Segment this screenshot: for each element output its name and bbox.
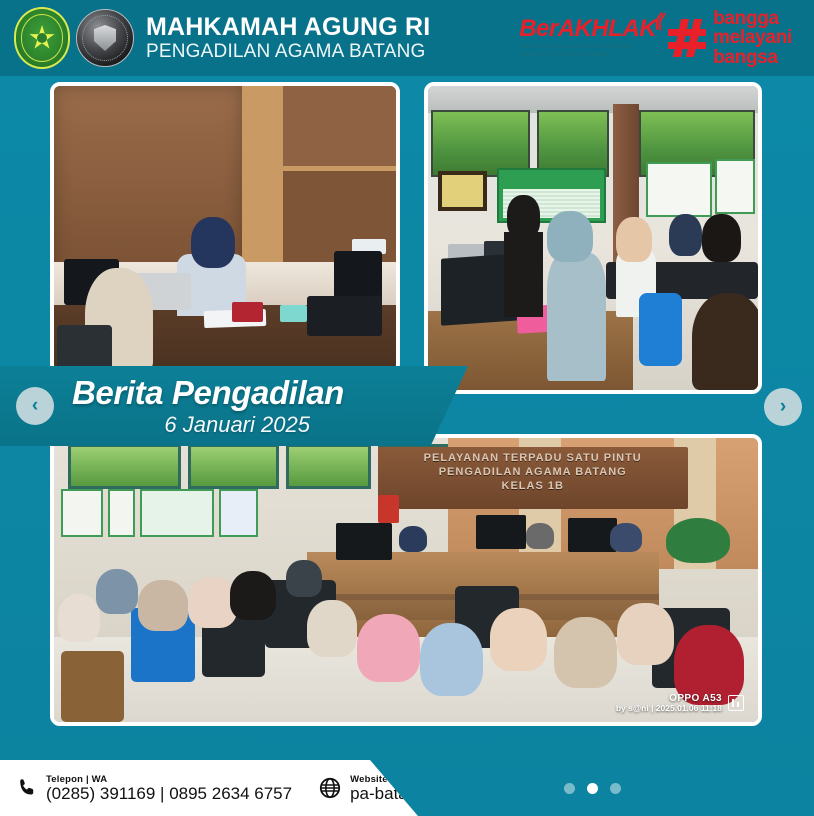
photo-waiting-desk[interactable] — [424, 82, 762, 394]
photo-waiting-desk-image — [428, 86, 758, 390]
logo-zona-integritas-icon — [76, 9, 134, 67]
watermark-meta: by s@ni | 2025.01.06 11:18 — [616, 704, 722, 714]
photo-counter-service-image — [54, 86, 396, 370]
shield-icon — [94, 25, 116, 51]
header-title-block: MAHKAMAH AGUNG RI PENGADILAN AGAMA BATAN… — [146, 15, 430, 62]
phone-icon — [16, 776, 38, 800]
carousel-pagination — [370, 760, 814, 816]
camera-shutter-icon — [728, 695, 744, 711]
wall-sign-line-3: KELAS 1B — [378, 480, 688, 492]
photo-ptsp-hall-image: PELAYANAN TERPADU SATU PINTU PENGADILAN … — [54, 438, 758, 722]
bangga-melayani-bangsa-tagline: bangga melayani bangsa — [713, 9, 792, 67]
carousel-prev-button[interactable]: ‹ — [16, 387, 54, 425]
tagline-line-3: bangsa — [713, 48, 792, 67]
banner-text-block: Berita Pengadilan 6 Januari 2025 — [72, 376, 344, 436]
berakhlak-check-icon: ⟪ — [652, 9, 669, 34]
emblem-star-shape — [29, 25, 55, 51]
carousel-dot-3[interactable] — [610, 783, 621, 794]
logo-pengadilan-agama-batang-icon — [14, 7, 70, 69]
phone-label: Telepon | WA — [46, 774, 292, 785]
banner-date: 6 Januari 2025 — [72, 413, 344, 436]
news-banner: ‹ Berita Pengadilan 6 Januari 2025 — [0, 366, 468, 446]
wall-sign-line-1: PELAYANAN TERPADU SATU PINTU — [378, 452, 688, 464]
berakhlak-wordmark: BerAKHLAK — [519, 17, 656, 41]
wall-sign-line-2: PENGADILAN AGAMA BATANG — [378, 466, 688, 478]
carousel-next-button[interactable]: › — [764, 388, 802, 426]
photo-ptsp-hall[interactable]: PELAYANAN TERPADU SATU PINTU PENGADILAN … — [50, 434, 762, 726]
wall-sign-ptsp: PELAYANAN TERPADU SATU PINTU PENGADILAN … — [378, 447, 688, 509]
photo-watermark: OPPO A53 by s@ni | 2025.01.06 11:18 — [616, 693, 744, 714]
tagline-line-2: melayani — [713, 28, 792, 47]
tagline-line-1: bangga — [713, 9, 792, 28]
berakhlak-brand: BerAKHLAK ⟪ Berorientasi Pelayanan Akunt… — [519, 9, 800, 67]
berakhlak-values: Berorientasi Pelayanan Akuntabel Kompete… — [519, 43, 637, 59]
carousel-dot-2[interactable] — [587, 783, 598, 794]
news-poster: MAHKAMAH AGUNG RI PENGADILAN AGAMA BATAN… — [0, 0, 814, 816]
globe-icon — [318, 776, 342, 800]
banner-title: Berita Pengadilan — [72, 376, 344, 411]
phone-value: (0285) 391169 | 0895 2634 6757 — [46, 785, 292, 803]
court-name: PENGADILAN AGAMA BATANG — [146, 42, 430, 61]
poster-header: MAHKAMAH AGUNG RI PENGADILAN AGAMA BATAN… — [0, 0, 814, 76]
bangga-melayani-hash-icon — [668, 19, 706, 57]
contact-phone: Telepon | WA (0285) 391169 | 0895 2634 6… — [16, 774, 292, 803]
institution-name: MAHKAMAH AGUNG RI — [146, 15, 430, 41]
photo-counter-service[interactable] — [50, 82, 400, 374]
logo-group — [14, 7, 134, 69]
berakhlak-logo: BerAKHLAK ⟪ Berorientasi Pelayanan Akunt… — [519, 17, 656, 59]
carousel-dot-1[interactable] — [564, 783, 575, 794]
